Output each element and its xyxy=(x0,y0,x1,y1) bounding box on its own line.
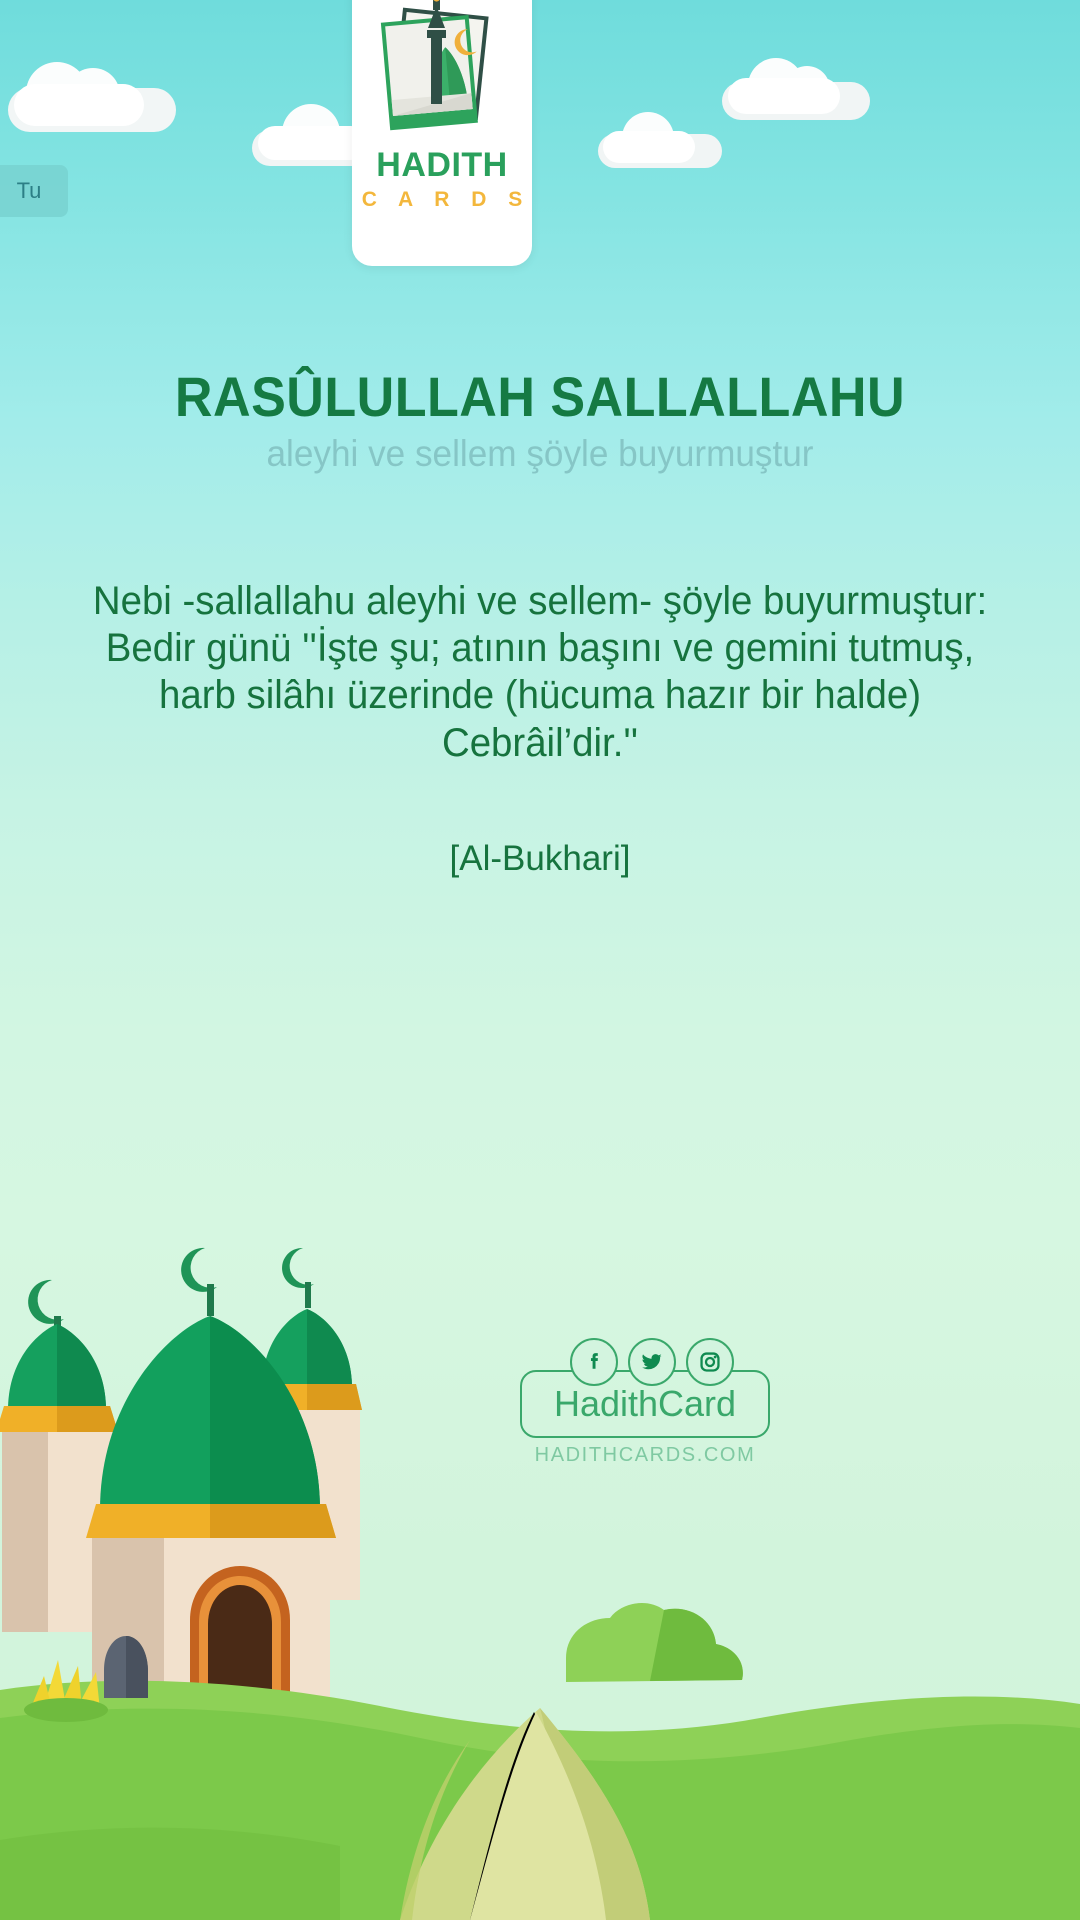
facebook-icon[interactable] xyxy=(570,1338,618,1386)
hadith-source: [Al-Bukhari] xyxy=(70,839,1010,879)
page-title: RASÛLULLAH SALLALLAHU xyxy=(38,368,1042,427)
handle-label: HadithCard xyxy=(554,1386,736,1422)
language-chip[interactable]: Tu xyxy=(0,165,68,217)
twitter-icon[interactable] xyxy=(628,1338,676,1386)
mosque-photo-logo-icon xyxy=(367,0,517,144)
social-links xyxy=(570,1336,770,1388)
language-chip-label: Tu xyxy=(17,178,42,204)
logo-subtitle: C A R D S xyxy=(354,189,530,210)
hadith-body: Nebi -sallallahu aleyhi ve sellem- şöyle… xyxy=(70,578,1010,879)
bush xyxy=(566,1603,743,1682)
logo-panel[interactable]: HADITH C A R D S xyxy=(352,0,532,266)
website-url: HADITHCARDS.COM xyxy=(520,1444,770,1467)
hadith-card: Tu xyxy=(0,0,1080,1920)
heading-block: RASÛLULLAH SALLALLAHU aleyhi ve sellem ş… xyxy=(0,368,1080,475)
footer-badge: HadithCard HADITHCARDS.COM xyxy=(520,1344,780,1524)
page-subtitle: aleyhi ve sellem şöyle buyurmuştur xyxy=(27,433,1053,476)
landscape-illustration xyxy=(0,1220,1080,1920)
cloud-left xyxy=(8,62,188,138)
instagram-icon[interactable] xyxy=(686,1338,734,1386)
hadith-text: Nebi -sallallahu aleyhi ve sellem- şöyle… xyxy=(89,578,991,767)
cloud-mid-right xyxy=(598,112,726,170)
cloud-right xyxy=(722,58,874,124)
logo-wordmark: HADITH xyxy=(376,148,507,182)
